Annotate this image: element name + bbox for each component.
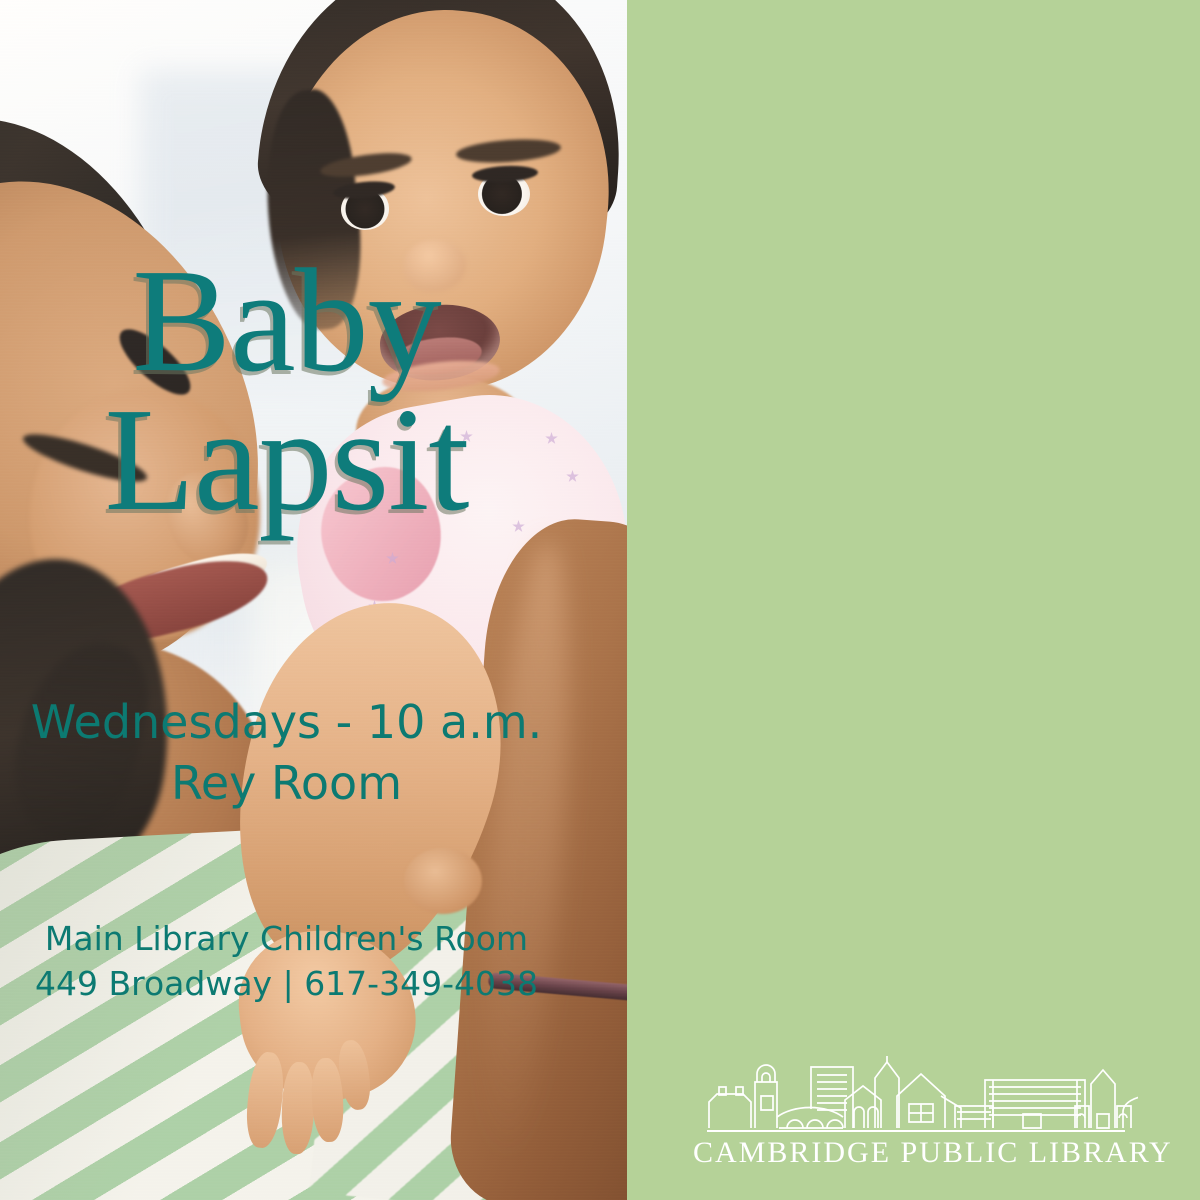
title-line-1: Baby [0,252,573,391]
poster: Baby Lapsit Wednesdays - 10 a.m. Rey Roo… [0,0,1200,1200]
info-panel [627,0,1200,1200]
logo-divider-rule [707,1130,1125,1132]
logo-wordmark: CAMBRIDGE PUBLIC LIBRARY [693,1136,1138,1170]
schedule-day-time: Wednesdays - 10 a.m. [0,692,573,753]
photo-panel [0,0,627,1200]
event-schedule: Wednesdays - 10 a.m. Rey Room [0,692,573,813]
address-venue: Main Library Children's Room [0,917,573,962]
city-skyline-icon [693,1056,1138,1134]
library-logo: CAMBRIDGE PUBLIC LIBRARY [693,1056,1138,1168]
poster-title: Baby Lapsit [0,252,573,530]
schedule-location: Rey Room [0,753,573,814]
baby-other-hand [404,848,482,914]
venue-address: Main Library Children's Room 449 Broadwa… [0,917,573,1006]
title-line-2: Lapsit [0,391,573,530]
address-street-phone: 449 Broadway | 617-349-4038 [0,962,573,1007]
